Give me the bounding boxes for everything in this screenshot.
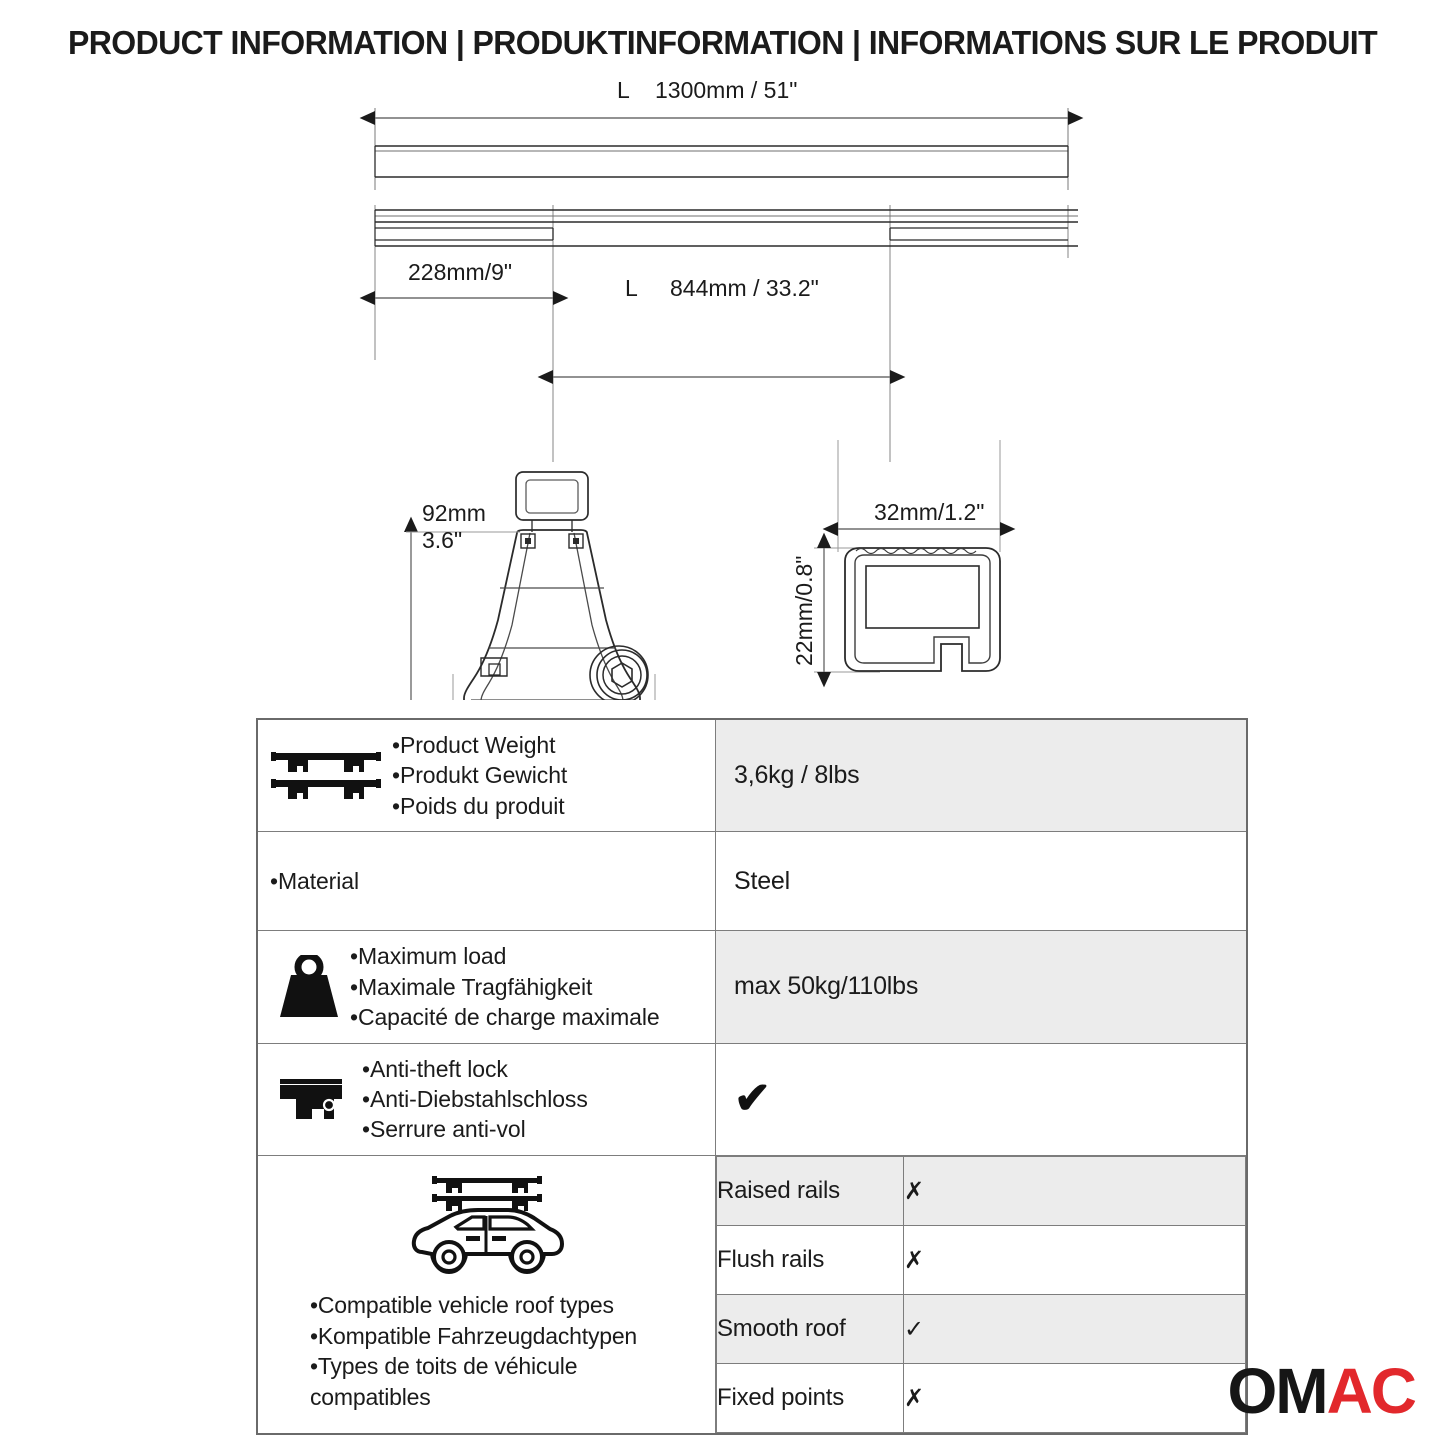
- roof-type-mark: ✓: [904, 1294, 1246, 1363]
- spec-label-line: •Product Weight: [392, 730, 567, 760]
- spec-label-list: •Maximum load •Maximale Tragfähigkeit •C…: [350, 941, 660, 1032]
- logo-text-red: AC: [1327, 1355, 1415, 1427]
- compatibility-label-cell: •Compatible vehicle roof types •Kompatib…: [257, 1155, 716, 1434]
- spec-label-line: compatibles: [310, 1382, 637, 1413]
- spec-value-max-load: max 50kg/110lbs: [716, 931, 1248, 1043]
- technical-drawing: L 1300mm / 51" 228mm/9" L 844mm / 33.2": [0, 80, 1445, 700]
- spec-label-line: •Kompatible Fahrzeugdachtypen: [310, 1321, 637, 1352]
- roof-type-mark: ✗: [904, 1363, 1246, 1432]
- lock-icon: [274, 1073, 352, 1125]
- spec-label-list: •Product Weight •Produkt Gewicht •Poids …: [392, 730, 567, 821]
- dim-length-value: 1300mm / 51": [655, 80, 797, 103]
- table-row: •Compatible vehicle roof types •Kompatib…: [257, 1155, 1247, 1434]
- spec-label-cell: •Product Weight •Produkt Gewicht •Poids …: [257, 719, 716, 832]
- spec-label-line: •Material: [270, 866, 359, 896]
- dim-length-prefix: L: [617, 80, 630, 103]
- table-row: •Product Weight •Produkt Gewicht •Poids …: [257, 719, 1247, 832]
- roof-types-table: Raised rails ✗ Flush rails ✗ Smooth roof…: [716, 1156, 1246, 1433]
- foot-front-view: 92mm 3.6" 104mm / 4": [406, 472, 655, 700]
- table-row: •Anti-theft lock •Anti-Diebstahlschloss …: [257, 1043, 1247, 1155]
- roof-type-name: Raised rails: [717, 1156, 904, 1225]
- specification-table: •Product Weight •Produkt Gewicht •Poids …: [256, 718, 1248, 1435]
- spec-label-line: •Anti-theft lock: [362, 1054, 588, 1084]
- dim-profile-height: 22mm/0.8": [791, 556, 817, 666]
- car-with-roofrack-icon: [404, 1172, 572, 1280]
- omac-logo: OMAC: [1227, 1359, 1415, 1423]
- compatibility-label-list: •Compatible vehicle roof types •Kompatib…: [310, 1290, 637, 1412]
- dim-span-prefix: L: [625, 275, 638, 301]
- spec-label-line: •Anti-Diebstahlschloss: [362, 1084, 588, 1114]
- roof-type-mark: ✗: [904, 1225, 1246, 1294]
- logo-text-dark: OM: [1227, 1355, 1326, 1427]
- roof-type-row: Raised rails ✗: [717, 1156, 1246, 1225]
- spec-label-cell: •Material: [257, 832, 716, 931]
- spec-label-line: •Types de toits de véhicule: [310, 1351, 637, 1382]
- roof-type-row: Flush rails ✗: [717, 1225, 1246, 1294]
- spec-label-list: •Anti-theft lock •Anti-Diebstahlschloss …: [362, 1054, 588, 1145]
- crossbars-icon: [270, 747, 382, 805]
- spec-label-line: •Serrure anti-vol: [362, 1114, 588, 1144]
- roof-type-name: Smooth roof: [717, 1294, 904, 1363]
- spec-label-line: •Poids du produit: [392, 791, 567, 821]
- spec-label-cell: •Maximum load •Maximale Tragfähigkeit •C…: [257, 931, 716, 1043]
- weight-icon: [278, 955, 340, 1019]
- profile-cross-section: 32mm/1.2" 22mm/0.8": [791, 440, 1000, 672]
- table-row: •Maximum load •Maximale Tragfähigkeit •C…: [257, 931, 1247, 1043]
- spec-label-list: •Material: [270, 842, 359, 920]
- spec-label-cell: •Anti-theft lock •Anti-Diebstahlschloss …: [257, 1043, 716, 1155]
- roof-type-name: Fixed points: [717, 1363, 904, 1432]
- dim-profile-width: 32mm/1.2": [874, 499, 984, 525]
- spec-value-material: Steel: [716, 832, 1248, 931]
- roof-types-cell: Raised rails ✗ Flush rails ✗ Smooth roof…: [716, 1155, 1248, 1434]
- spec-label-line: •Produkt Gewicht: [392, 760, 567, 790]
- spec-value-weight: 3,6kg / 8lbs: [716, 719, 1248, 832]
- roof-type-row: Smooth roof ✓: [717, 1294, 1246, 1363]
- table-row: •Material Steel: [257, 832, 1247, 931]
- page-title: PRODUCT INFORMATION | PRODUKTINFORMATION…: [22, 24, 1424, 62]
- spec-label-line: •Capacité de charge maximale: [350, 1002, 660, 1032]
- roof-type-name: Flush rails: [717, 1225, 904, 1294]
- dim-foot-height-mm: 92mm: [422, 500, 486, 526]
- spec-label-line: •Maximale Tragfähigkeit: [350, 972, 660, 1002]
- spec-value-anti-theft: ✔: [716, 1043, 1248, 1155]
- dim-offset-value: 228mm/9": [408, 259, 512, 285]
- roof-type-mark: ✗: [904, 1156, 1246, 1225]
- spec-label-line: •Compatible vehicle roof types: [310, 1290, 637, 1321]
- roof-type-row: Fixed points ✗: [717, 1363, 1246, 1432]
- spec-label-line: •Maximum load: [350, 941, 660, 971]
- dim-span-value: 844mm / 33.2": [670, 275, 819, 301]
- dim-foot-height-in: 3.6": [422, 527, 462, 553]
